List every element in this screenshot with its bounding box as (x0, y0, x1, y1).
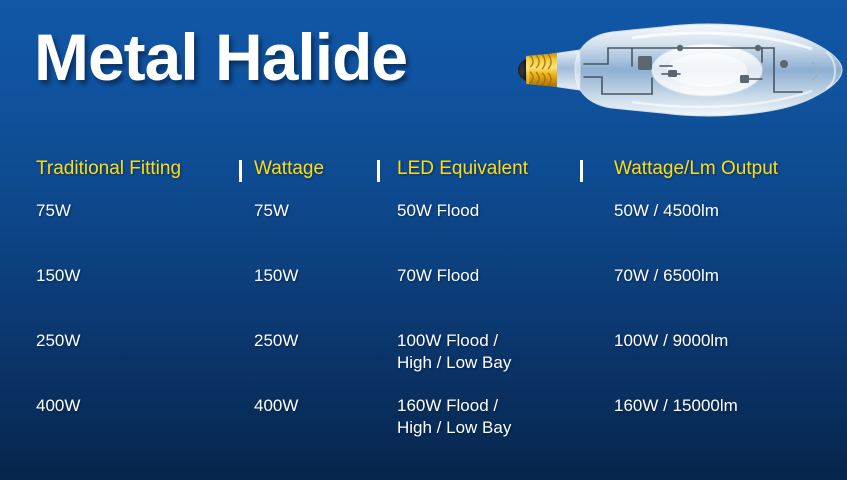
cell-wattage-lm-output: 100W / 9000lm (614, 330, 728, 352)
cell-led-equivalent: 160W Flood / High / Low Bay (397, 395, 511, 439)
table-header-row: Traditional Fitting Wattage LED Equivale… (0, 158, 847, 200)
header-separator-2 (377, 160, 380, 182)
cell-wattage: 150W (254, 265, 298, 287)
header-separator-1 (239, 160, 242, 182)
cell-traditional-fitting: 400W (36, 395, 80, 417)
metal-halide-lamp-image (512, 4, 847, 136)
column-header-wattage: Wattage (254, 158, 324, 180)
comparison-table: Traditional Fitting Wattage LED Equivale… (0, 158, 847, 460)
cell-led-equivalent: 50W Flood (397, 200, 479, 222)
table-row: 150W 150W 70W Flood 70W / 6500lm (0, 265, 847, 330)
cell-wattage: 400W (254, 395, 298, 417)
page-title: Metal Halide (34, 24, 407, 90)
column-header-traditional-fitting: Traditional Fitting (36, 158, 181, 180)
cell-traditional-fitting: 150W (36, 265, 80, 287)
bulb-icon (512, 4, 847, 136)
table-row: 75W 75W 50W Flood 50W / 4500lm (0, 200, 847, 265)
table-row: 250W 250W 100W Flood / High / Low Bay 10… (0, 330, 847, 395)
metal-halide-infographic: Metal Halide (0, 0, 847, 480)
cell-led-equivalent: 100W Flood / High / Low Bay (397, 330, 511, 374)
column-header-wattage-lm-output: Wattage/Lm Output (614, 158, 778, 180)
bulb-base (518, 53, 557, 87)
cell-wattage-lm-output: 50W / 4500lm (614, 200, 719, 222)
cell-wattage: 250W (254, 330, 298, 352)
cell-led-equivalent: 70W Flood (397, 265, 479, 287)
header-separator-3 (580, 160, 583, 182)
cell-traditional-fitting: 250W (36, 330, 80, 352)
cell-wattage-lm-output: 160W / 15000lm (614, 395, 738, 417)
table-row: 400W 400W 160W Flood / High / Low Bay 16… (0, 395, 847, 460)
column-header-led-equivalent: LED Equivalent (397, 158, 528, 180)
cell-traditional-fitting: 75W (36, 200, 71, 222)
cell-wattage-lm-output: 70W / 6500lm (614, 265, 719, 287)
cell-wattage: 75W (254, 200, 289, 222)
